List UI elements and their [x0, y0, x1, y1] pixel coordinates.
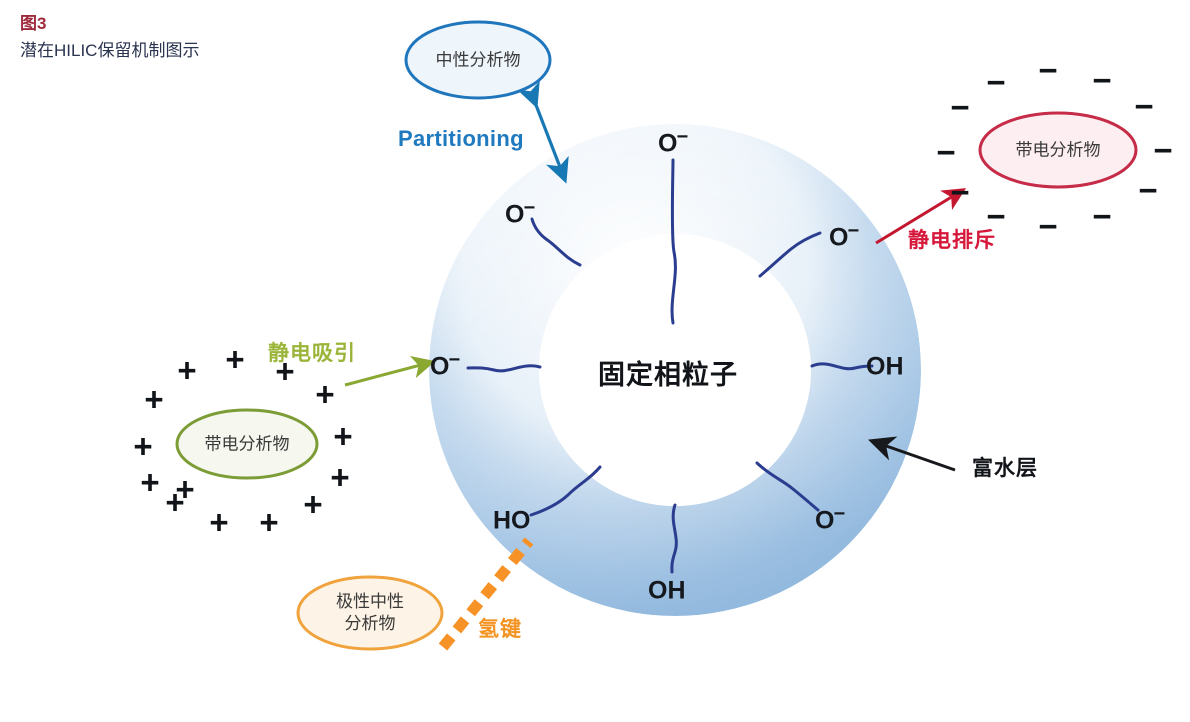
- functional-group-bottom: OH: [648, 572, 686, 605]
- positive-charge-glyph-10: +: [209, 506, 228, 539]
- center-label: 固定相粒子: [598, 353, 738, 392]
- positive-charge-glyph-1: +: [144, 383, 163, 416]
- positive-charge-glyph-0: +: [133, 430, 152, 463]
- charged-analyte-positive-label: 带电分析物: [205, 434, 290, 455]
- functional-group-lower-left: HO: [493, 502, 531, 535]
- negative-charge-glyph-9: −: [1038, 210, 1057, 243]
- positive-charge-glyph-12: +: [140, 466, 159, 499]
- positive-charge-glyph-4: +: [275, 355, 294, 388]
- functional-group-lower-right: O−: [815, 502, 846, 535]
- positive-charge-glyph-5: +: [315, 378, 334, 411]
- negative-charge-glyph-11: −: [950, 176, 969, 209]
- negative-charge-glyph-7: −: [1138, 174, 1157, 207]
- charge-sign-top: −: [676, 126, 688, 148]
- mechanism-label-hydrogen-bond: 氢键: [478, 613, 522, 643]
- mechanism-label-repulsion: 静电排斥: [908, 224, 996, 254]
- positive-charge-glyph-9: +: [259, 506, 278, 539]
- charge-sign-lower-right: −: [833, 503, 845, 525]
- attraction-arrow: [345, 362, 432, 385]
- functional-group-left: O−: [430, 348, 461, 381]
- functional-group-lower-right-label: O: [815, 506, 834, 534]
- functional-group-top-label: O: [658, 129, 677, 157]
- mechanism-label-water-layer: 富水层: [972, 452, 1038, 482]
- functional-group-bottom-label: OH: [648, 576, 686, 604]
- negative-charge-glyph-2: −: [986, 66, 1005, 99]
- negative-charge-glyph-10: −: [986, 200, 1005, 233]
- functional-group-right: OH: [866, 348, 904, 381]
- neutral-analyte-label: 中性分析物: [436, 50, 521, 71]
- charge-sign-left: −: [448, 349, 460, 371]
- diagram-canvas: 图3 潜在HILIC保留机制图示: [0, 0, 1190, 722]
- charge-sign-upper-right: −: [847, 220, 859, 242]
- positive-charge-glyph-8: +: [303, 488, 322, 521]
- polar-neutral-analyte-line2: 分析物: [336, 613, 404, 635]
- negative-charge-glyph-3: −: [1038, 54, 1057, 87]
- negative-charge-glyph-0: −: [936, 136, 955, 169]
- functional-group-right-label: OH: [866, 352, 904, 380]
- charge-sign-upper-left: −: [523, 197, 535, 219]
- positive-charge-glyph-13: +: [175, 473, 194, 506]
- positive-charge-glyph-7: +: [330, 461, 349, 494]
- functional-group-upper-right-label: O: [829, 223, 848, 251]
- mechanism-label-partitioning: Partitioning: [398, 126, 524, 152]
- positive-charge-glyph-2: +: [177, 354, 196, 387]
- functional-group-lower-left-label: HO: [493, 506, 531, 534]
- negative-charge-glyph-5: −: [1134, 90, 1153, 123]
- negative-charge-glyph-4: −: [1092, 64, 1111, 97]
- functional-group-left-label: O: [430, 352, 449, 380]
- functional-group-upper-left: O−: [505, 196, 536, 229]
- polar-neutral-analyte-label: 极性中性 分析物: [336, 591, 404, 635]
- negative-charge-glyph-6: −: [1153, 134, 1172, 167]
- functional-group-top: O−: [658, 125, 689, 158]
- functional-group-upper-right: O−: [829, 219, 860, 252]
- functional-group-upper-left-label: O: [505, 200, 524, 228]
- charged-analyte-negative-label: 带电分析物: [1016, 140, 1101, 161]
- negative-charge-glyph-1: −: [950, 91, 969, 124]
- negative-charge-glyph-8: −: [1092, 200, 1111, 233]
- positive-charge-glyph-3: +: [225, 343, 244, 376]
- polar-neutral-analyte-line1: 极性中性: [336, 591, 404, 613]
- positive-charge-glyph-6: +: [333, 420, 352, 453]
